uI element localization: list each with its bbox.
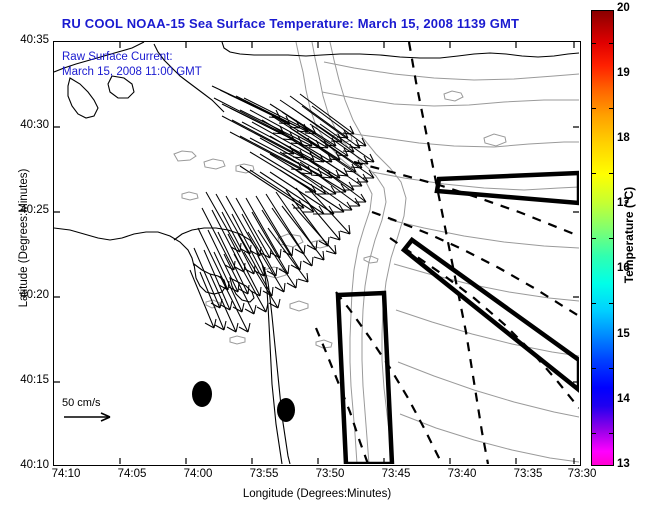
x-tick-74-00: 74:00 (184, 468, 213, 480)
x-tick-73-40: 73:40 (448, 468, 477, 480)
station-marker-1 (192, 381, 212, 407)
y-axis-title: Latitude (Degrees:Minutes) (18, 118, 30, 358)
x-tick-74-05: 74:05 (118, 468, 147, 480)
y-tick-40-10: 40:10 (3, 459, 49, 471)
velocity-scale-legend: 50 cm/s (62, 397, 152, 430)
right-arrow-icon (62, 409, 122, 425)
colorbar-tick-18: 18 (617, 132, 630, 144)
velocity-scale-label: 50 cm/s (62, 397, 152, 409)
x-tick-73-30: 73:30 (568, 468, 597, 480)
map-plot-area[interactable]: Raw Surface Current: March 15, 2008 11:0… (53, 41, 581, 466)
figure-title: RU COOL NOAA-15 Sea Surface Temperature:… (0, 16, 581, 31)
raw-current-annotation-line2: March 15, 2008 11:00 GMT (62, 65, 202, 80)
colorbar-tick-15: 15 (617, 328, 630, 340)
x-tick-73-55: 73:55 (250, 468, 279, 480)
station-marker-2 (277, 398, 295, 422)
y-tick-40-15: 40:15 (3, 374, 49, 386)
x-tick-74-10: 74:10 (52, 468, 81, 480)
survey-track-boxes (338, 173, 579, 464)
x-tick-73-45: 73:45 (382, 468, 411, 480)
x-tick-73-50: 73:50 (316, 468, 345, 480)
x-axis-tick-labels: 74:10 74:05 74:00 73:55 73:50 73:45 73:4… (53, 468, 581, 486)
raw-current-annotation-line1: Raw Surface Current: (62, 50, 173, 65)
colorbar-tick-20: 20 (617, 2, 630, 14)
temperature-colorbar[interactable]: 20 19 18 17 16 15 14 13 (591, 10, 614, 466)
y-tick-40-35: 40:35 (3, 34, 49, 46)
colorbar-tick-13: 13 (617, 458, 630, 470)
colorbar-tick-19: 19 (617, 67, 630, 79)
colorbar-tick-14: 14 (617, 393, 630, 405)
sst-map-figure: RU COOL NOAA-15 Sea Surface Temperature:… (0, 0, 651, 518)
x-tick-73-35: 73:35 (514, 468, 543, 480)
x-axis-title: Longitude (Degrees:Minutes) (53, 488, 581, 500)
colorbar-title: Temperature (°C) (622, 145, 636, 325)
